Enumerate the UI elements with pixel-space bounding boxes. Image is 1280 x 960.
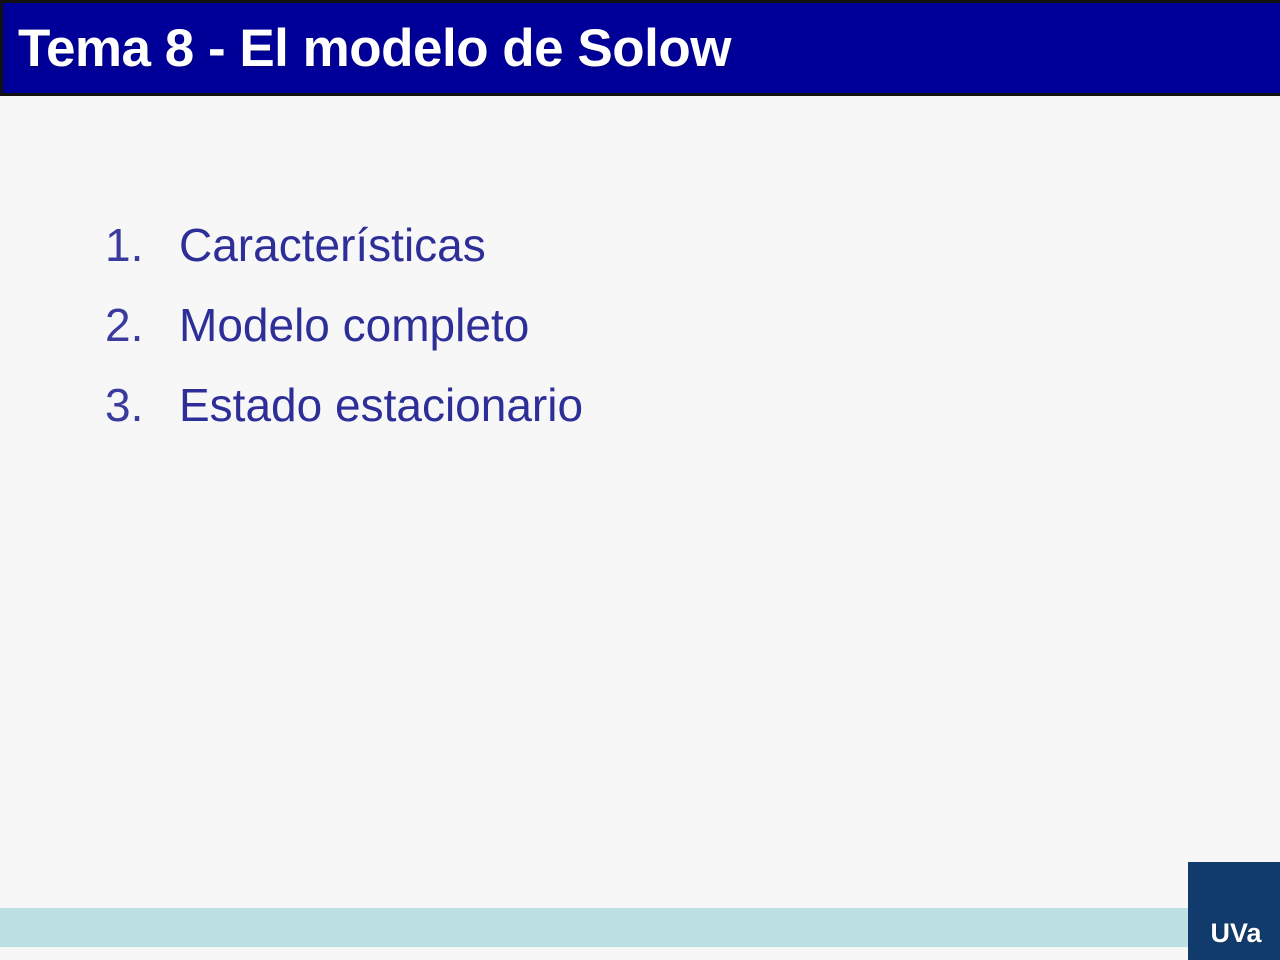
uva-logo: UVa (1188, 862, 1280, 960)
list-item-marker: 2. (105, 285, 179, 365)
list-item-label: Modelo completo (179, 285, 529, 365)
list-item-label: Estado estacionario (179, 365, 583, 445)
list-item-marker: 3. (105, 365, 179, 445)
slide-title-bar: Tema 8 - El modelo de Solow (0, 0, 1280, 96)
footer-accent-bar (0, 908, 1280, 947)
list-item: 3. Estado estacionario (105, 365, 1105, 445)
list-item-label: Características (179, 205, 486, 285)
slide-title: Tema 8 - El modelo de Solow (18, 22, 731, 75)
list-item: 1. Características (105, 205, 1105, 285)
presentation-slide: Tema 8 - El modelo de Solow 1. Caracterí… (0, 0, 1280, 960)
uva-logo-text: UVa (1210, 918, 1261, 949)
slide-outline-list: 1. Características 2. Modelo completo 3.… (105, 205, 1105, 445)
list-item-marker: 1. (105, 205, 179, 285)
list-item: 2. Modelo completo (105, 285, 1105, 365)
